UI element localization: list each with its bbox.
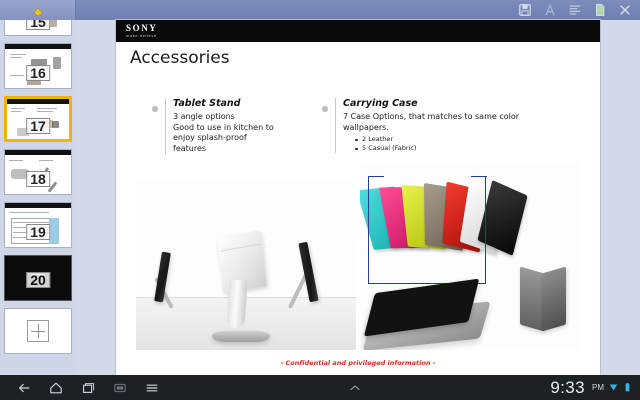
toolbar-actions: [518, 3, 640, 17]
nav-buttons: [0, 380, 160, 396]
align-list-icon[interactable]: [568, 3, 582, 17]
slide-number: 20: [26, 272, 50, 288]
thumbnail-preview: 20: [5, 256, 71, 300]
tablet-silhouette: [298, 242, 318, 303]
stand-base: [212, 331, 270, 342]
recents-icon[interactable]: [80, 380, 96, 396]
app-tab-button[interactable]: [0, 0, 76, 20]
column-line: Good to use in kitchen to: [173, 123, 332, 134]
column-line: 3 angle options: [173, 112, 332, 123]
slide-17[interactable]: SONY make.believe Accessories Tablet Sta…: [116, 20, 600, 375]
slide-thumbnail-19[interactable]: 19: [4, 202, 72, 248]
battery-icon: [623, 381, 632, 394]
white-stand: [210, 234, 272, 342]
text-body: Tablet Stand 3 angle options Good to use…: [173, 98, 332, 154]
slide-number: 18: [26, 171, 50, 187]
column-heading: Tablet Stand: [173, 98, 332, 109]
case-panel: [542, 267, 566, 332]
nav-expand-area: [160, 380, 550, 396]
home-icon[interactable]: [48, 380, 64, 396]
slide-number: 15: [26, 20, 50, 30]
highlight-bracket: [368, 176, 486, 284]
slide-thumbnail-17[interactable]: 17: [4, 96, 72, 142]
plus-icon: [27, 320, 49, 342]
app-tab-icon: [32, 5, 43, 16]
column-line: 7 Case Options, that matches to same col…: [343, 112, 552, 123]
thumbnail-preview: 19: [5, 208, 71, 248]
wifi-icon: [609, 381, 618, 394]
slide-thumbnail-18[interactable]: 18: [4, 149, 72, 195]
save-icon[interactable]: [518, 3, 532, 17]
column-line: wallpapers.: [343, 123, 552, 134]
thumbnail-preview: 16: [5, 49, 71, 89]
add-slide-button[interactable]: [4, 308, 72, 354]
brand-name: SONY: [126, 24, 157, 33]
image-carrying-cases[interactable]: [360, 162, 580, 350]
thumbnail-preview: 18: [5, 155, 71, 195]
divider-rule: [335, 98, 336, 153]
slide-number: 17: [26, 118, 50, 134]
bullet-dot-icon: [322, 106, 328, 112]
column-line: features: [173, 144, 332, 155]
thumbnail-preview: 17: [7, 104, 69, 142]
slide-thumbnail-16[interactable]: 16: [4, 43, 72, 89]
text-format-icon[interactable]: [543, 3, 557, 17]
bullet-dot-icon: [152, 106, 158, 112]
confidential-footer: - Confidential and privileged informatio…: [116, 359, 600, 367]
column-line: enjoy splash-proof: [173, 133, 332, 144]
slide-number: 19: [26, 224, 50, 240]
text-body: Carrying Case 7 Case Options, that match…: [343, 98, 552, 153]
case-panel: [520, 267, 544, 332]
brand-block: SONY make.believe: [126, 24, 157, 38]
slide-editor-canvas[interactable]: SONY make.believe Accessories Tablet Sta…: [76, 20, 640, 375]
slide-thumbnail-15[interactable]: 15: [4, 20, 72, 36]
slide-thumbnail-20[interactable]: 20: [4, 255, 72, 301]
menu-icon[interactable]: [144, 380, 160, 396]
column-heading: Carrying Case: [343, 98, 552, 109]
sub-bullet-item: 5 Casual (Fabric): [355, 144, 552, 153]
text-block-carrying-case[interactable]: Carrying Case 7 Case Options, that match…: [322, 98, 552, 153]
slide-header-band: SONY make.believe: [116, 20, 600, 42]
text-block-tablet-stand[interactable]: Tablet Stand 3 angle options Good to use…: [152, 98, 332, 154]
slide-number: 16: [26, 65, 50, 81]
slide-title[interactable]: Accessories: [130, 48, 230, 68]
divider-rule: [165, 98, 166, 154]
status-meridiem: PM: [592, 383, 604, 392]
status-clock: 9:33: [550, 378, 585, 398]
new-document-icon[interactable]: [593, 3, 607, 17]
chevron-up-icon[interactable]: [347, 380, 363, 396]
brand-tagline: make.believe: [126, 34, 157, 38]
close-icon[interactable]: [618, 3, 632, 17]
folded-case-stand: [518, 266, 570, 328]
screenshot-icon[interactable]: [112, 380, 128, 396]
tablet-screen: 15 16: [0, 0, 640, 400]
back-icon[interactable]: [16, 380, 32, 396]
stand-neck: [226, 279, 247, 328]
sub-bullet-item: 2 Leather: [355, 135, 552, 144]
tablet-in-case: [363, 272, 491, 350]
image-tablet-stand[interactable]: [136, 180, 356, 350]
status-area[interactable]: 9:33 PM: [550, 378, 640, 398]
app-toolbar: [0, 0, 640, 20]
thumbnail-preview: 15: [5, 20, 71, 35]
android-navigation-bar: 9:33 PM: [0, 375, 640, 400]
slide-thumbnail-rail[interactable]: 15 16: [0, 20, 76, 375]
sub-bullet-list: 2 Leather 5 Casual (Fabric): [355, 135, 552, 153]
